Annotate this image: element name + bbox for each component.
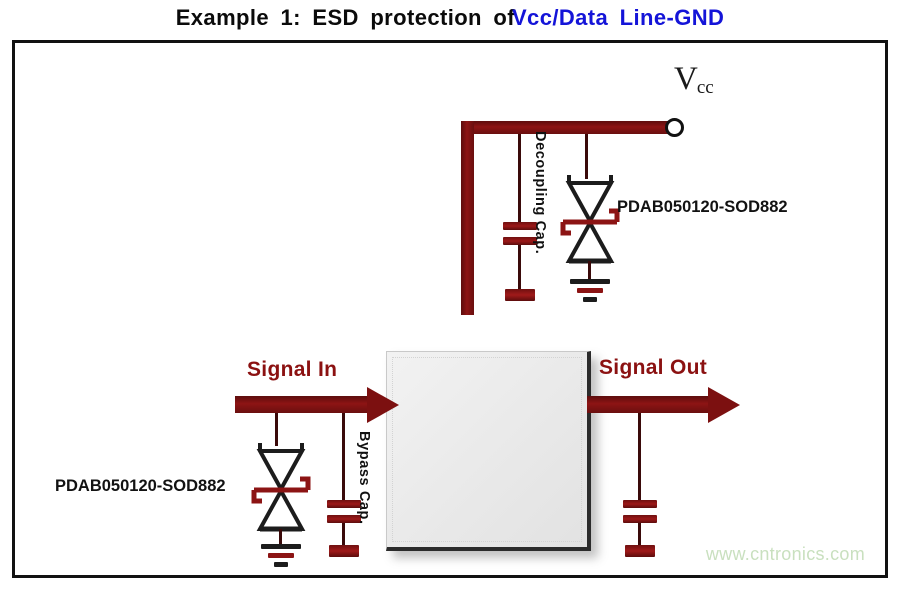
vcc-rail-wire	[461, 121, 678, 134]
capacitor-plate-top	[623, 500, 657, 508]
signal-tvs-part-label: PDAB050120-SOD882	[55, 477, 226, 496]
screenshot-root: Example 1: ESD protection of Vcc/Data Li…	[0, 0, 900, 589]
signal-in-label: Signal In	[247, 358, 337, 382]
ground-bar-3	[583, 297, 597, 302]
signal-tvs-ground-symbol	[261, 544, 301, 568]
signal-tvs-bottom-lead	[279, 529, 282, 544]
ic-block-inner-outline	[392, 357, 582, 542]
bypass-cap-bottom-lead	[342, 523, 345, 545]
ground-bar-1	[261, 544, 301, 549]
output-capacitor	[623, 500, 657, 523]
page-title-prefix: Example 1: ESD protection of	[176, 5, 515, 31]
vcc-tvs-part-label: PDAB050120-SOD882	[617, 198, 788, 217]
signal-in-wire	[235, 396, 375, 413]
decoupling-cap-bottom-lead	[518, 245, 521, 289]
ground-bar-1	[570, 279, 610, 284]
signal-out-wire	[587, 396, 716, 413]
ground-bar-2	[268, 553, 294, 558]
vcc-label-main: V	[674, 61, 698, 97]
page-title: Example 1: ESD protection of Vcc/Data Li…	[0, 0, 900, 36]
decoupling-cap-ground-pad	[505, 289, 535, 301]
bypass-cap-label: Bypass Cap.	[356, 431, 372, 566]
output-cap-bottom-lead	[638, 523, 641, 545]
vcc-tvs-bottom-lead	[588, 261, 591, 279]
signal-out-arrowhead-icon	[708, 381, 742, 429]
signal-out-label: Signal Out	[599, 356, 707, 380]
capacitor-plate-bottom	[623, 515, 657, 523]
vcc-drop-wire	[461, 121, 474, 315]
watermark: www.cntronics.com	[706, 544, 865, 565]
vcc-label: Vcc	[674, 61, 715, 98]
bypass-cap-top-lead	[342, 413, 345, 500]
output-cap-top-lead	[638, 413, 641, 500]
decoupling-cap-label: Decoupling Cap.	[532, 131, 548, 301]
diagram-frame: Vcc Decoupling Cap.	[12, 40, 888, 578]
vcc-terminal-node	[665, 118, 684, 137]
vcc-label-sub: cc	[697, 77, 714, 98]
output-cap-ground-pad	[625, 545, 655, 557]
page-title-highlight: Vcc/Data Line-GND	[512, 5, 724, 31]
ground-bar-3	[274, 562, 288, 567]
bypass-cap-ground-pad	[329, 545, 359, 557]
ic-block[interactable]	[386, 351, 591, 551]
decoupling-cap-top-lead	[518, 134, 521, 222]
ground-bar-2	[577, 288, 603, 293]
vcc-tvs-ground-symbol	[570, 279, 610, 303]
signal-in-arrowhead-icon	[367, 381, 401, 429]
